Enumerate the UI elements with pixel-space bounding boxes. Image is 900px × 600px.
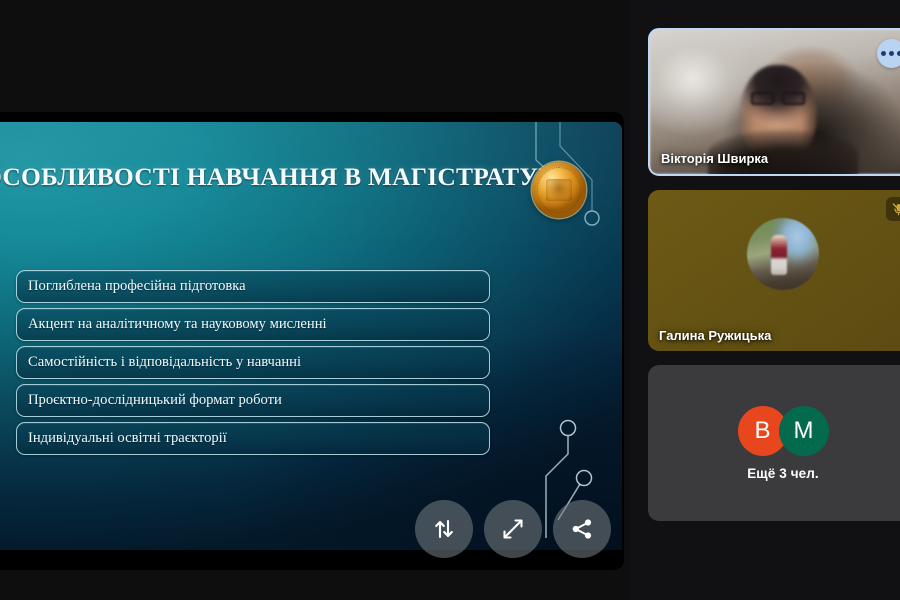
list-item: Самостійність і відповідальність у навча… xyxy=(16,346,490,379)
ellipsis-icon-dot xyxy=(881,51,886,56)
bullet-label: Акцент на аналітичному та науковому мисл… xyxy=(28,316,327,333)
list-item: Проєктно-дослідницький формат роботи xyxy=(16,384,490,417)
participant-tile-overflow[interactable]: В М Ещё 3 чел. xyxy=(648,365,900,521)
fullscreen-button[interactable] xyxy=(484,500,542,558)
expand-diagonal-icon xyxy=(500,516,526,542)
bullet-label: Поглиблена професійна підготовка xyxy=(28,278,246,295)
shared-screen-stage[interactable]: ОСОБЛИВОСТІ НАВЧАННЯ В МАГІСТРАТУРІ xyxy=(0,0,630,600)
video-conference-window: ОСОБЛИВОСТІ НАВЧАННЯ В МАГІСТРАТУРІ xyxy=(0,0,900,600)
slide-bullet-list: Поглиблена професійна підготовка Акцент … xyxy=(16,270,490,460)
arrows-up-down-icon xyxy=(431,516,457,542)
ellipsis-icon-dot xyxy=(889,51,894,56)
list-item: Акцент на аналітичному та науковому мисл… xyxy=(16,308,490,341)
bullet-label: Проєктно-дослідницький формат роботи xyxy=(28,392,282,409)
gold-university-seal-icon xyxy=(532,162,586,218)
participant-name-label: Вікторія Швирка xyxy=(661,151,768,166)
share-icon xyxy=(569,516,595,542)
slide-title: ОСОБЛИВОСТІ НАВЧАННЯ В МАГІСТРАТУРІ xyxy=(0,164,522,190)
participant-name-label: Галина Ружицька xyxy=(659,328,771,343)
seal-crest xyxy=(546,179,572,201)
bullet-label: Самостійність і відповідальність у навча… xyxy=(28,354,301,371)
presentation-slide: ОСОБЛИВОСТІ НАВЧАННЯ В МАГІСТРАТУРІ xyxy=(0,122,622,550)
bullet-label: Індивідуальні освітні траєкторії xyxy=(28,430,227,447)
overflow-avatar-group: В М xyxy=(738,406,829,456)
glasses-icon xyxy=(751,92,805,105)
list-item: Поглиблена професійна підготовка xyxy=(16,270,490,303)
participant-tile-active-speaker[interactable]: Вікторія Швирка xyxy=(648,28,900,176)
mic-off-icon xyxy=(891,202,900,217)
participant-filmstrip[interactable]: Вікторія Швирка Галина Ружицька В М Ещё … xyxy=(630,0,900,600)
mic-off-badge xyxy=(886,197,900,221)
avatar xyxy=(747,218,819,290)
change-layout-button[interactable] xyxy=(415,500,473,558)
avatar-initial: М xyxy=(779,406,829,456)
stage-controls xyxy=(415,500,611,558)
participant-tile-muted[interactable]: Галина Ружицька xyxy=(648,190,900,351)
share-button[interactable] xyxy=(553,500,611,558)
overflow-count-label: Ещё 3 чел. xyxy=(747,466,819,481)
list-item: Індивідуальні освітні траєкторії xyxy=(16,422,490,455)
tile-more-options-button[interactable] xyxy=(877,39,900,68)
